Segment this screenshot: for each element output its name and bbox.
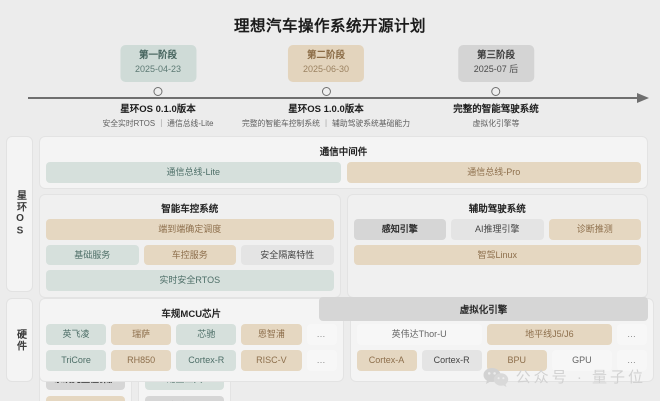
- rail-hardware-label: 硬件: [15, 329, 25, 352]
- rail-hardware: 硬件: [6, 298, 33, 382]
- node-version-3: 完整的智能驾驶系统: [453, 101, 539, 115]
- chip-vehicle-service[interactable]: 车控服务: [144, 245, 237, 266]
- phase-label-3: 第三阶段: [471, 50, 521, 63]
- chip-infineon[interactable]: 英飞凌: [46, 324, 106, 345]
- chip-cortex-r-soc[interactable]: Cortex-R: [422, 350, 482, 371]
- chip-safety-isolation[interactable]: 安全隔离特性: [241, 245, 334, 266]
- phase-label-1: 第一阶段: [133, 50, 183, 63]
- chip-diagnostic-prediction[interactable]: 诊断推测: [549, 219, 642, 240]
- roadmap-timeline: 第一阶段 2025-04-23 星环OS 0.1.0版本 安全实时RTOS ｜ …: [0, 45, 660, 135]
- chip-mcu-more-2[interactable]: …: [307, 350, 337, 371]
- node-detail-1: 安全实时RTOS ｜ 通信总线-Lite: [102, 118, 213, 129]
- phase-badge-3: 第三阶段 2025-07 后: [458, 45, 534, 82]
- middleware-title: 通信中间件: [46, 142, 641, 162]
- phase-badge-2: 第二阶段 2025-06-30: [288, 45, 364, 82]
- architecture-body: 星环OS 通信中间件 通信总线-Lite 通信总线-Pro 智能车控系统: [0, 136, 660, 398]
- chip-identity-auth[interactable]: 身份认证与权限掌控: [46, 396, 125, 401]
- timeline-node-2[interactable]: 第二阶段 2025-06-30 星环OS 1.0.0版本 完整的智能车控制系统 …: [242, 45, 410, 129]
- chip-bus-pro[interactable]: 通信总线-Pro: [347, 162, 642, 183]
- subsystem-row: 智能车控系统 端到端确定调度 基础服务 车控服务 安全隔离特性 实时安全RTOS…: [39, 194, 648, 298]
- vehicle-control-row: 基础服务 车控服务 安全隔离特性: [46, 245, 334, 266]
- phase-date-1: 2025-04-23: [133, 63, 183, 76]
- node-version-2: 星环OS 1.0.0版本: [242, 101, 410, 115]
- chip-adas-linux[interactable]: 智驾Linux: [354, 245, 642, 266]
- phase-badge-1: 第一阶段 2025-04-23: [120, 45, 196, 82]
- chip-tricore[interactable]: TriCore: [46, 350, 106, 371]
- soc-vendor-row: 英伟达Thor-U 地平线J5/J6 …: [357, 324, 648, 345]
- vehicle-control-title: 智能车控系统: [46, 199, 334, 219]
- infographic-page: 理想汽车操作系统开源计划 第一阶段 2025-04-23 星环OS 0.1.0版…: [0, 0, 660, 401]
- chip-bpu[interactable]: BPU: [487, 350, 547, 371]
- os-main: 通信中间件 通信总线-Lite 通信总线-Pro 智能车控系统 端到端确定调度 …: [39, 136, 654, 292]
- vehicle-control-panel: 智能车控系统 端到端确定调度 基础服务 车控服务 安全隔离特性 实时安全RTOS: [39, 194, 341, 298]
- rail-os-label: 星环OS: [15, 190, 25, 238]
- middleware-panel: 通信中间件 通信总线-Lite 通信总线-Pro: [39, 136, 648, 189]
- chip-cortex-r-mcu[interactable]: Cortex-R: [176, 350, 236, 371]
- chip-soc-more-1[interactable]: …: [617, 324, 647, 345]
- node-version-1: 星环OS 0.1.0版本: [102, 101, 213, 115]
- virtualization-row: 虚拟化引擎: [39, 297, 648, 317]
- mcu-core-row: TriCore RH850 Cortex-R RISC-V …: [46, 350, 337, 371]
- chip-horizon-j5-j6[interactable]: 地平线J5/J6: [487, 324, 612, 345]
- chip-nvidia-thor-u[interactable]: 英伟达Thor-U: [357, 324, 482, 345]
- chip-rh850[interactable]: RH850: [111, 350, 171, 371]
- soc-core-row: Cortex-A Cortex-R BPU GPU …: [357, 350, 648, 371]
- adas-row: 感知引擎 AI推理引擎 诊断推测: [354, 219, 642, 240]
- phase-label-2: 第二阶段: [301, 50, 351, 63]
- timeline-dot-3: [491, 87, 500, 96]
- rail-os: 星环OS: [6, 136, 33, 292]
- chip-base-service[interactable]: 基础服务: [46, 245, 139, 266]
- os-center-column: 通信中间件 通信总线-Lite 通信总线-Pro 智能车控系统 端到端确定调度 …: [39, 136, 648, 317]
- timeline-node-1[interactable]: 第一阶段 2025-04-23 星环OS 0.1.0版本 安全实时RTOS ｜ …: [102, 45, 213, 129]
- middleware-chips: 通信总线-Lite 通信总线-Pro: [46, 162, 641, 183]
- mcu-vendor-row: 英飞凌 瑞萨 芯驰 恩智浦 …: [46, 324, 337, 345]
- adas-title: 辅助驾驶系统: [354, 199, 642, 219]
- os-band: 星环OS 通信中间件 通信总线-Lite 通信总线-Pro 智能车控系统: [0, 136, 660, 292]
- chip-perception-engine[interactable]: 感知引擎: [354, 219, 447, 240]
- page-title: 理想汽车操作系统开源计划: [0, 0, 660, 36]
- chip-cortex-a[interactable]: Cortex-A: [357, 350, 417, 371]
- chip-risc-v[interactable]: RISC-V: [241, 350, 301, 371]
- chip-gpu[interactable]: GPU: [552, 350, 612, 371]
- chip-renesas[interactable]: 瑞萨: [111, 324, 171, 345]
- phase-date-3: 2025-07 后: [471, 63, 521, 76]
- chip-e2e-scheduling[interactable]: 端到端确定调度: [46, 219, 334, 240]
- timeline-dot-2: [321, 87, 330, 96]
- chip-mcu-more-1[interactable]: …: [307, 324, 337, 345]
- chip-realtime-rtos[interactable]: 实时安全RTOS: [46, 270, 334, 291]
- chip-semidrive[interactable]: 芯驰: [176, 324, 236, 345]
- node-detail-2: 完整的智能车控制系统 ｜ 辅助驾驶系统基础能力: [242, 118, 410, 129]
- chip-soc-more-2[interactable]: …: [617, 350, 647, 371]
- timeline-dot-1: [154, 87, 163, 96]
- adas-panel: 辅助驾驶系统 感知引擎 AI推理引擎 诊断推测 智驾Linux: [347, 194, 649, 298]
- chip-bus-lite[interactable]: 通信总线-Lite: [46, 162, 341, 183]
- chip-diagnostic-tool[interactable]: 诊断工具: [145, 396, 224, 401]
- node-detail-3: 虚拟化引擎等: [453, 118, 539, 129]
- phase-date-2: 2025-06-30: [301, 63, 351, 76]
- chip-ai-inference-engine[interactable]: AI推理引擎: [451, 219, 544, 240]
- chip-nxp[interactable]: 恩智浦: [241, 324, 301, 345]
- chip-virtualization-engine[interactable]: 虚拟化引擎: [319, 297, 648, 321]
- timeline-node-3[interactable]: 第三阶段 2025-07 后 完整的智能驾驶系统 虚拟化引擎等: [453, 45, 539, 129]
